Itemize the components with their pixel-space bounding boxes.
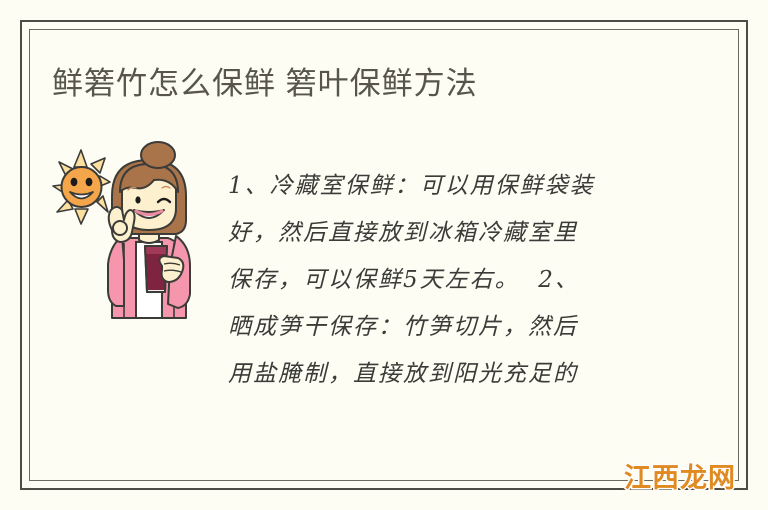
body-line: 保存，可以保鲜5天左右。 2、 — [228, 257, 660, 304]
article-body: 1、冷藏室保鲜：可以用保鲜袋装 好，然后直接放到冰箱冷藏室里 保存，可以保鲜5天… — [228, 163, 660, 398]
ok-hand — [109, 207, 135, 242]
body-line: 晒成笋干保存：竹笋切片，然后 — [228, 304, 660, 351]
body-line: 用盐腌制，直接放到阳光充足的 — [228, 351, 660, 398]
body-line: 1、冷藏室保鲜：可以用保鲜袋装 — [228, 163, 660, 210]
winking-woman-figure — [108, 142, 190, 318]
body-line: 好，然后直接放到冰箱冷藏室里 — [228, 210, 660, 257]
article-image-canvas: 鲜箬竹怎么保鲜 箬叶保鲜方法 — [0, 0, 768, 510]
site-watermark: 江西龙网 — [624, 465, 736, 492]
watermark-text: 江西龙网 — [624, 463, 736, 493]
smiling-sun-icon — [53, 150, 110, 224]
article-title: 鲜箬竹怎么保鲜 箬叶保鲜方法 — [52, 62, 692, 106]
illustration — [50, 140, 222, 320]
